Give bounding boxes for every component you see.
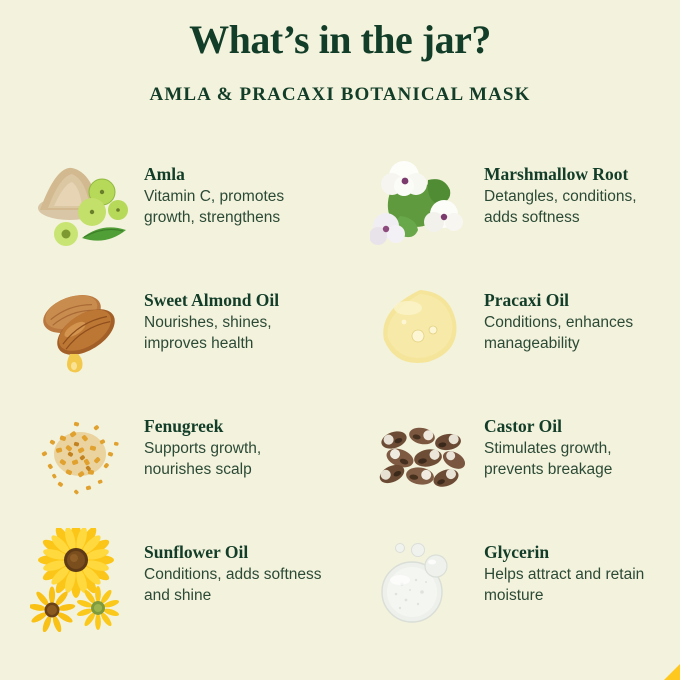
ingredient-grid: Amla Vitamin C, promotes growth, strengt… xyxy=(0,148,680,652)
ingredient-text: Sunflower Oil Conditions, adds softness … xyxy=(144,526,324,606)
ingredient-desc: Helps attract and retain moisture xyxy=(484,565,664,606)
ingredient-text: Amla Vitamin C, promotes growth, strengt… xyxy=(144,148,324,228)
header: What’s in the jar? AMLA & PRACAXI BOTANI… xyxy=(0,0,680,106)
ingredient-desc: Conditions, adds softness and shine xyxy=(144,565,324,606)
sunflowers-image xyxy=(30,528,130,632)
castor-beans-image xyxy=(370,402,470,506)
ingredient-text: Castor Oil Stimulates growth, prevents b… xyxy=(484,400,664,480)
ingredient-item: Sweet Almond Oil Nourishes, shines, impr… xyxy=(0,274,340,400)
ingredient-item: Marshmallow Root Detangles, conditions, … xyxy=(340,148,680,274)
ingredient-desc: Supports growth, nourishes scalp xyxy=(144,439,324,480)
yellow-oil-blob-image xyxy=(370,276,470,380)
ingredient-text: Pracaxi Oil Conditions, enhances managea… xyxy=(484,274,664,354)
ingredient-item: Sunflower Oil Conditions, adds softness … xyxy=(0,526,340,652)
amla-powder-and-berries-image xyxy=(30,150,130,254)
ingredient-desc: Stimulates growth, prevents breakage xyxy=(484,439,664,480)
corner-accent xyxy=(664,664,680,680)
fenugreek-seeds-image xyxy=(30,402,130,506)
page-subtitle: AMLA & PRACAXI BOTANICAL MASK xyxy=(0,84,680,106)
ingredient-item: Glycerin Helps attract and retain moistu… xyxy=(340,526,680,652)
ingredient-desc: Nourishes, shines, improves health xyxy=(144,313,324,354)
ingredient-name: Castor Oil xyxy=(484,416,664,436)
ingredient-text: Marshmallow Root Detangles, conditions, … xyxy=(484,148,664,228)
ingredient-item: Castor Oil Stimulates growth, prevents b… xyxy=(340,400,680,526)
ingredient-name: Glycerin xyxy=(484,542,664,562)
ingredient-name: Fenugreek xyxy=(144,416,324,436)
ingredient-name: Marshmallow Root xyxy=(484,164,664,184)
ingredient-item: Pracaxi Oil Conditions, enhances managea… xyxy=(340,274,680,400)
ingredient-text: Sweet Almond Oil Nourishes, shines, impr… xyxy=(144,274,324,354)
page-title: What’s in the jar? xyxy=(0,18,680,62)
ingredient-desc: Vitamin C, promotes growth, strengthens xyxy=(144,187,324,228)
ingredient-name: Sunflower Oil xyxy=(144,542,324,562)
ingredient-name: Amla xyxy=(144,164,324,184)
ingredient-name: Pracaxi Oil xyxy=(484,290,664,310)
ingredient-item: Fenugreek Supports growth, nourishes sca… xyxy=(0,400,340,526)
infographic-page: What’s in the jar? AMLA & PRACAXI BOTANI… xyxy=(0,0,680,680)
ingredient-item: Amla Vitamin C, promotes growth, strengt… xyxy=(0,148,340,274)
ingredient-name: Sweet Almond Oil xyxy=(144,290,324,310)
ingredient-text: Glycerin Helps attract and retain moistu… xyxy=(484,526,664,606)
marshmallow-flowers-image xyxy=(370,150,470,254)
ingredient-text: Fenugreek Supports growth, nourishes sca… xyxy=(144,400,324,480)
almonds-with-oil-drop-image xyxy=(30,276,130,380)
ingredient-desc: Conditions, enhances manageability xyxy=(484,313,664,354)
clear-gel-droplet-image xyxy=(370,528,470,632)
ingredient-desc: Detangles, conditions, adds softness xyxy=(484,187,664,228)
